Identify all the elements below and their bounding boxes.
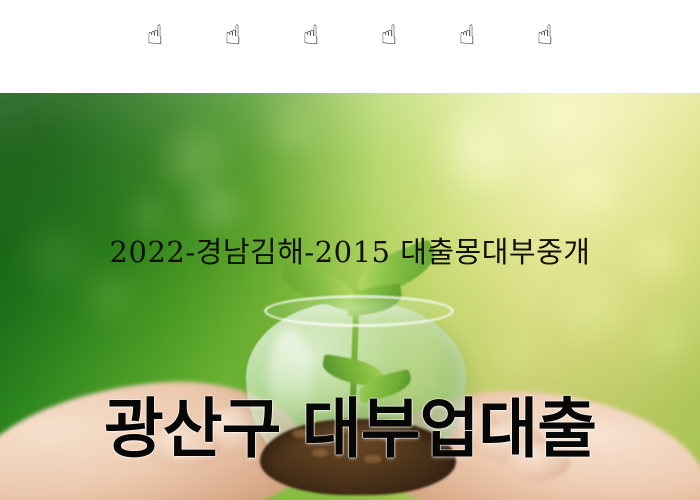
pointing-hand-up-icon: ☝	[376, 22, 402, 49]
pointing-hand-up-icon: ☝	[454, 22, 480, 49]
pointing-hand-up-icon: ☝	[142, 22, 168, 49]
pointer-icon-bar: ☝ ☝ ☝ ☝ ☝ ☝	[0, 0, 700, 93]
pointing-hand-up-icon: ☝	[298, 22, 324, 49]
banner-headline: 광산구 대부업대출	[0, 396, 700, 464]
banner-image: 2022-경남김해-2015 대출몽대부중개 광산구 대부업대출	[0, 93, 700, 500]
screenshot-root: ☝ ☝ ☝ ☝ ☝ ☝	[0, 0, 700, 500]
glass-bowl-rim	[264, 295, 454, 327]
banner-subtitle: 2022-경남김해-2015 대출몽대부중개	[0, 236, 700, 269]
pointing-hand-up-icon: ☝	[532, 22, 558, 49]
pointing-hand-up-icon: ☝	[220, 22, 246, 49]
